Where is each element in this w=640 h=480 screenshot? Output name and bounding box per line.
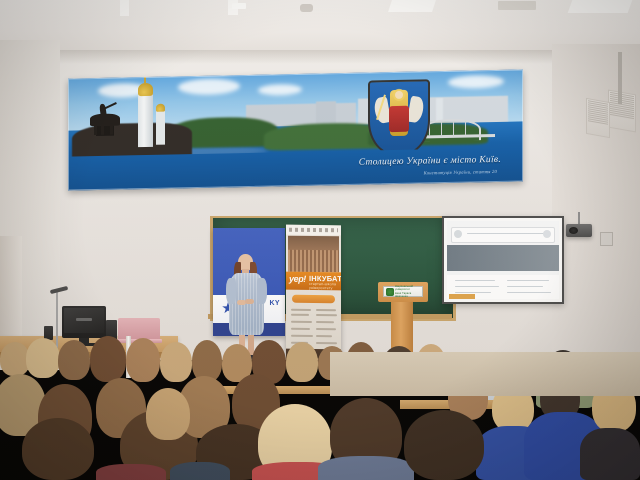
text-line bbox=[291, 314, 309, 316]
slide-line bbox=[455, 286, 499, 287]
desktop-monitor bbox=[62, 306, 106, 338]
smoke-detector-icon bbox=[300, 4, 313, 12]
kyiv-panorama-banner: Столицею України є місто Київ. Конституц… bbox=[68, 69, 523, 190]
presenter-sleeve bbox=[226, 278, 236, 304]
text-line bbox=[291, 328, 310, 330]
audience-head bbox=[286, 342, 318, 382]
plaque-line-2: імені Тараса Шевченка bbox=[395, 292, 422, 298]
ventilation-grille-icon bbox=[608, 90, 636, 133]
projection-screen: ❙❙ bbox=[442, 216, 564, 304]
audience-head bbox=[126, 338, 160, 382]
rollup-section-pill bbox=[292, 295, 335, 304]
text-line bbox=[316, 335, 332, 337]
text-line bbox=[316, 314, 337, 316]
slide-top-bar bbox=[451, 227, 555, 243]
text-line bbox=[291, 309, 311, 311]
presenter-sleeve bbox=[257, 278, 267, 304]
floor-strip bbox=[330, 352, 640, 396]
icon-strip bbox=[289, 228, 338, 233]
audience-head bbox=[58, 340, 90, 380]
slide-line bbox=[507, 292, 551, 293]
text-line bbox=[291, 321, 312, 323]
banner-frame bbox=[68, 69, 523, 190]
ceiling-beam bbox=[388, 0, 436, 12]
ceiling-vent bbox=[498, 1, 536, 10]
rollup-header bbox=[286, 225, 341, 236]
text-line bbox=[316, 328, 336, 330]
university-emblem-icon bbox=[386, 288, 394, 296]
audience-head bbox=[404, 410, 484, 480]
text-line bbox=[316, 321, 334, 323]
yep-logo: yep! bbox=[289, 274, 306, 284]
ceiling-beam bbox=[120, 0, 129, 16]
wall-speaker bbox=[600, 232, 613, 246]
slide-avatar-icon bbox=[454, 230, 462, 238]
blue-banner-label: KY bbox=[269, 300, 280, 307]
slide-line bbox=[507, 280, 549, 281]
projector-lens-icon bbox=[569, 227, 578, 234]
audience-head bbox=[22, 418, 94, 480]
presenter-hand bbox=[245, 299, 254, 304]
audience-head bbox=[146, 388, 190, 440]
crowd-photo bbox=[288, 250, 339, 273]
rollup-subline: стартап-школа університету bbox=[309, 282, 341, 290]
audience-shirt bbox=[580, 428, 640, 480]
ceiling-projector bbox=[566, 224, 592, 237]
audience-shirt bbox=[96, 464, 166, 480]
audience-shirt bbox=[318, 456, 414, 480]
lecture-hall-photo: Столицею України є місто Київ. Конституц… bbox=[0, 0, 640, 480]
monitor-logo bbox=[76, 318, 92, 321]
slide-accent-notch bbox=[449, 294, 475, 299]
audience-head bbox=[160, 342, 192, 382]
ceiling-beam bbox=[568, 0, 633, 13]
audience-shirt bbox=[170, 462, 230, 480]
text-line bbox=[316, 309, 336, 311]
rollup-photo bbox=[288, 236, 339, 273]
slide-badge-icon bbox=[543, 230, 551, 238]
ventilation-grille-icon bbox=[586, 98, 610, 138]
lectern-top: Національний університет імені Тараса Ше… bbox=[378, 282, 428, 302]
slide-content: ❙❙ bbox=[447, 221, 559, 299]
slide-line bbox=[455, 280, 495, 281]
wall-pipe bbox=[618, 52, 622, 104]
ceiling-light bbox=[232, 3, 246, 9]
pink-laptop bbox=[118, 318, 160, 340]
lectern-plaque: Національний університет імені Тараса Ше… bbox=[383, 286, 423, 297]
audience-head bbox=[90, 336, 126, 382]
wall-shadow bbox=[0, 50, 640, 64]
text-line bbox=[291, 335, 313, 337]
slide-hero-band: ❙❙ bbox=[447, 245, 559, 271]
audience-head bbox=[26, 338, 60, 378]
slide-line bbox=[507, 286, 543, 287]
